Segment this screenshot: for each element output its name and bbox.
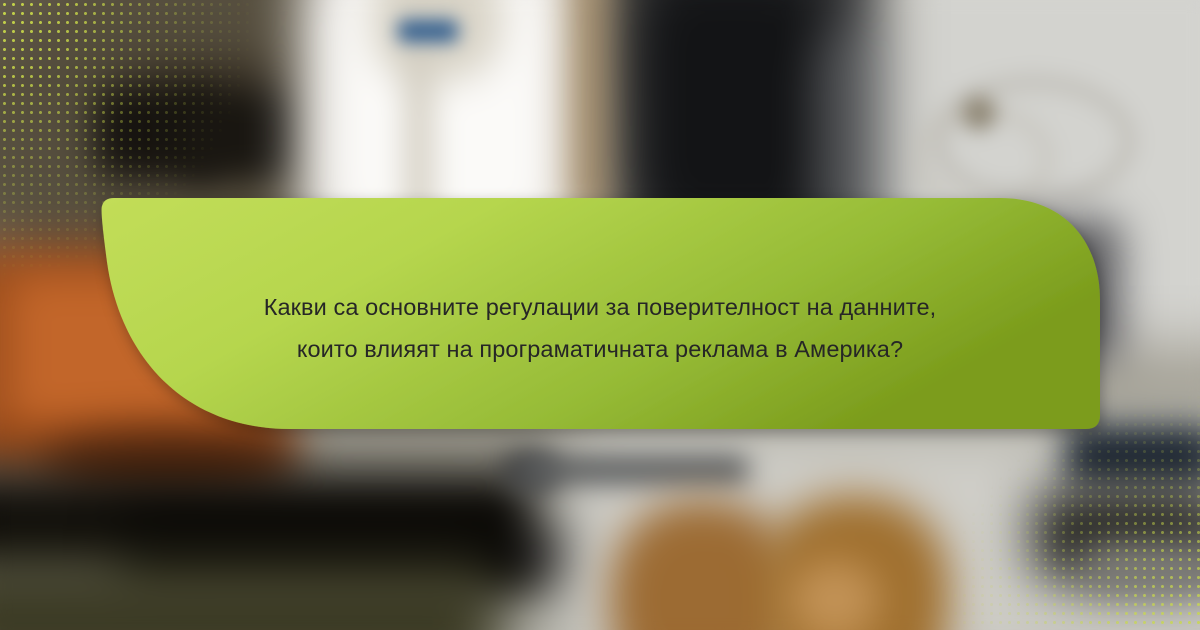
headline-line-2: които влияят на програматичната реклама … xyxy=(297,336,903,362)
headline-line-1: Какви са основните регулации за поверите… xyxy=(264,294,937,320)
social-card-canvas: Какви са основните регулации за поверите… xyxy=(0,0,1200,630)
page-title: Какви са основните регулации за поверите… xyxy=(150,286,1050,370)
